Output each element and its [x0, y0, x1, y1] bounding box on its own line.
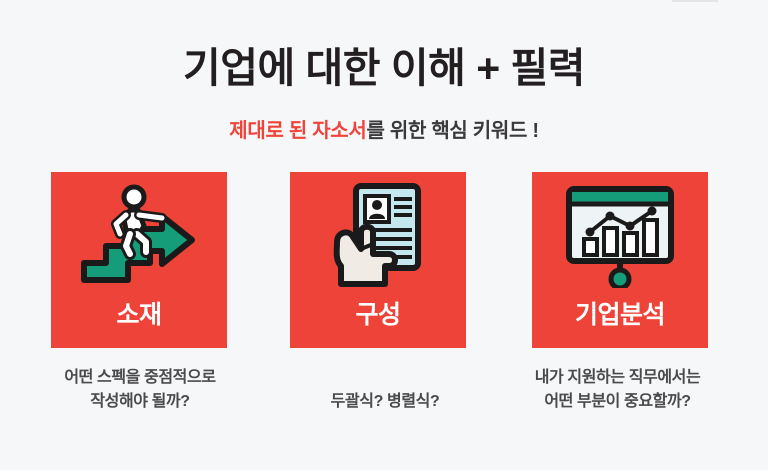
caption-soje-line2: 작성해야 될까?	[10, 390, 270, 414]
card-label-guseong: 구성	[355, 300, 400, 330]
caption-gieopbunseok-line1: 내가 지원하는 직무에서는	[535, 369, 701, 386]
page-title: 기업에 대한 이해 + 필력	[0, 44, 768, 92]
card-label-gieopbunseok: 기업분석	[575, 300, 665, 330]
caption-row: 어떤 스펙을 중점적으로 작성해야 될까? 두괄식? 병렬식? 내가 지원하는 …	[0, 363, 768, 433]
caption-guseong: 두괄식? 병렬식?	[265, 390, 505, 414]
icon-container	[290, 172, 466, 300]
icon-container	[532, 172, 708, 300]
person-climbing-stairs-arrow-icon	[80, 184, 198, 288]
slide-canvas: 기업에 대한 이해 + 필력 제대로 된 자소서를 위한 핵심 키워드 !	[0, 0, 768, 470]
card-row: 소재	[51, 172, 708, 348]
subtitle-accent-text: 제대로 된 자소서	[229, 120, 366, 142]
card-soje[interactable]: 소재	[51, 172, 227, 348]
card-label-soje: 소재	[116, 300, 161, 330]
card-guseong[interactable]: 구성	[290, 172, 466, 348]
caption-gieopbunseok: 내가 지원하는 직무에서는 어떤 부분이 중요할까?	[480, 366, 755, 414]
page-subtitle: 제대로 된 자소서를 위한 핵심 키워드 !	[0, 118, 768, 144]
presentation-chart-board-icon	[564, 184, 676, 288]
caption-gieopbunseok-line2: 어떤 부분이 중요할까?	[480, 390, 755, 414]
caption-guseong-line1: 두괄식? 병렬식?	[331, 393, 440, 410]
card-gieopbunseok[interactable]: 기업분석	[532, 172, 708, 348]
hand-holding-resume-icon	[323, 182, 433, 290]
icon-container	[51, 172, 227, 300]
top-edge-divider	[672, 0, 718, 2]
caption-soje-line1: 어떤 스펙을 중점적으로	[64, 369, 215, 386]
subtitle-rest-text: 를 위한 핵심 키워드 !	[367, 120, 539, 142]
caption-soje: 어떤 스펙을 중점적으로 작성해야 될까?	[10, 366, 270, 414]
